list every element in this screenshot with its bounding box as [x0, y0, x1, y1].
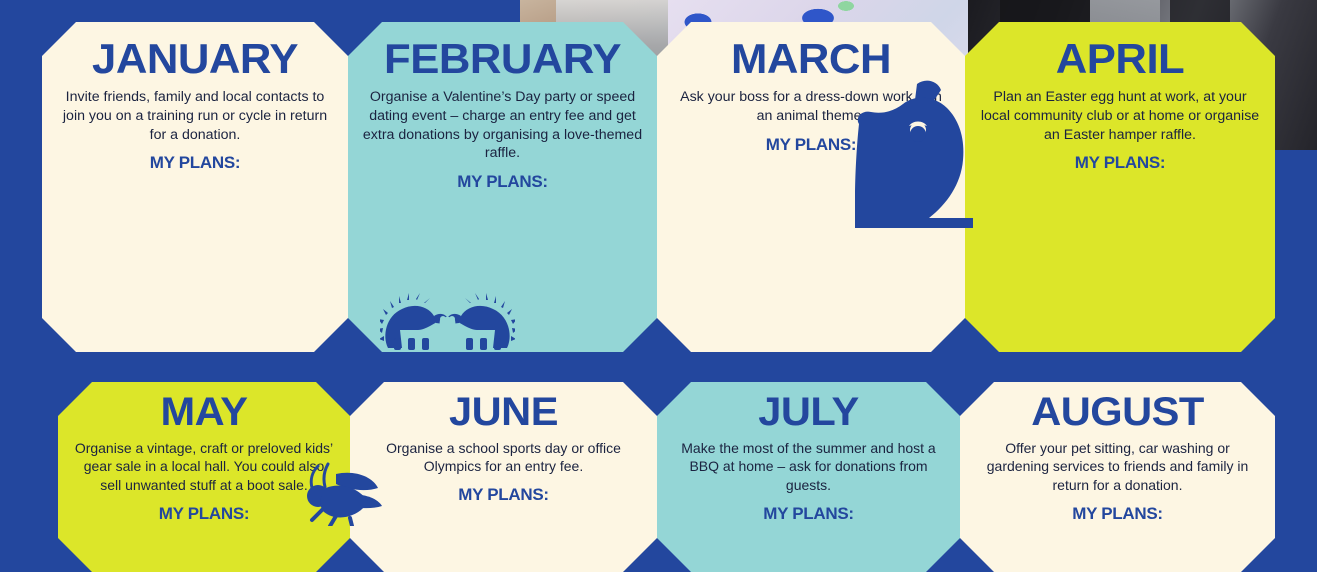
month-description: Invite friends, family and local contact… — [56, 88, 334, 145]
month-card-july[interactable]: JULY Make the most of the summer and hos… — [657, 382, 960, 572]
my-plans-label: MY PLANS: — [364, 485, 643, 505]
my-plans-label: MY PLANS: — [671, 504, 946, 524]
month-description: Make the most of the summer and host a B… — [671, 439, 946, 495]
month-title: JULY — [666, 392, 952, 433]
month-title: APRIL — [973, 38, 1266, 81]
month-description: Plan an Easter egg hunt at work, at your… — [979, 88, 1261, 145]
my-plans-label: MY PLANS: — [979, 153, 1261, 173]
month-card-june[interactable]: JUNE Organise a school sports day or off… — [350, 382, 657, 572]
my-plans-label: MY PLANS: — [56, 153, 334, 173]
my-plans-label: MY PLANS: — [671, 135, 951, 155]
month-cards-grid: JANUARY Invite friends, family and local… — [0, 0, 1317, 526]
month-description: Organise a vintage, craft or preloved ki… — [72, 439, 336, 495]
month-card-march[interactable]: MARCH Ask your boss for a dress-down wor… — [657, 22, 965, 352]
month-title: MAY — [67, 392, 342, 433]
month-card-february[interactable]: FEBRUARY Organise a Valentine’s Day part… — [348, 22, 657, 352]
month-card-january[interactable]: JANUARY Invite friends, family and local… — [42, 22, 348, 352]
month-title: JANUARY — [50, 38, 339, 81]
my-plans-label: MY PLANS: — [72, 504, 336, 524]
month-title: MARCH — [665, 38, 956, 81]
month-title: AUGUST — [968, 392, 1266, 433]
month-card-april[interactable]: APRIL Plan an Easter egg hunt at work, a… — [965, 22, 1275, 352]
month-title: JUNE — [358, 392, 648, 433]
month-card-may[interactable]: MAY Organise a vintage, craft or prelove… — [58, 382, 350, 572]
month-description: Ask your boss for a dress-down work with… — [671, 88, 951, 126]
month-description: Offer your pet sitting, car washing or g… — [974, 439, 1261, 495]
month-description: Organise a school sports day or office O… — [364, 439, 643, 476]
my-plans-label: MY PLANS: — [362, 172, 643, 192]
month-title: FEBRUARY — [356, 38, 648, 81]
month-description: Organise a Valentine’s Day party or spee… — [362, 88, 643, 164]
month-card-august[interactable]: AUGUST Offer your pet sitting, car washi… — [960, 382, 1275, 572]
my-plans-label: MY PLANS: — [974, 504, 1261, 524]
